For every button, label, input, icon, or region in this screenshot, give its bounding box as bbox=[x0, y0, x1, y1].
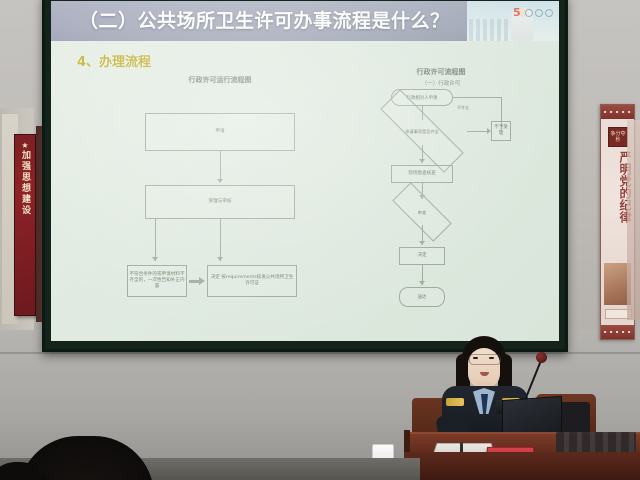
flow-node-label: 申请事项是否齐全 bbox=[405, 129, 439, 134]
flow-node-delivery: 送达 bbox=[399, 287, 445, 307]
left-wall-banner: ★ 加强思想建设 bbox=[0, 108, 46, 336]
flow-node-decision: 决定 bbox=[399, 247, 445, 265]
flow-arrow-icon bbox=[217, 257, 223, 261]
flow-node-label: 决定 按requirements核发公共场所卫生许可证 bbox=[209, 275, 295, 287]
left-flowchart-title: 行政许可运行流程图 bbox=[125, 75, 315, 85]
flow-connector bbox=[453, 97, 501, 98]
flow-node-label: 送达 bbox=[418, 294, 427, 300]
flow-node-label: 决定 bbox=[417, 253, 426, 259]
right-flowchart-title: 行政许可流程图 bbox=[351, 67, 531, 77]
right-banner-cap-bottom: ▪ ▪ ▪ ▪ ▪ bbox=[601, 325, 634, 339]
flow-node-supplement-notice: 不符合条件的或申请材料不齐全的，一次性告知补正内容 bbox=[127, 265, 187, 297]
circle-icon bbox=[545, 9, 553, 17]
flow-connector bbox=[220, 151, 221, 181]
star-icon: ★ bbox=[21, 141, 28, 150]
right-banner-cap-top: ▪ ▪ ▪ ▪ ▪ bbox=[601, 105, 634, 119]
flow-node-application: 申请 bbox=[145, 113, 295, 151]
right-flowchart-subtitle: （一）行政许可 bbox=[351, 79, 531, 87]
slide-header-illustration: 5 bbox=[467, 1, 559, 41]
microphone-icon bbox=[536, 352, 547, 363]
flow-node-examination: 审查 bbox=[393, 199, 451, 225]
presenter-eye-left bbox=[473, 357, 478, 359]
illustration-digit: 5 bbox=[513, 7, 521, 18]
right-banner-seal-text: 争分夺秒 bbox=[609, 128, 627, 143]
left-banner-text: 加强思想建设 bbox=[19, 150, 31, 216]
flow-arrow-icon bbox=[419, 159, 425, 163]
flow-node-label: 不予受理 bbox=[493, 125, 509, 137]
flow-node-label: 不符合条件的或申请材料不齐全的，一次性告知补正内容 bbox=[129, 272, 185, 290]
illustration-skyline bbox=[469, 19, 509, 41]
left-banner-plaque: ★ 加强思想建设 bbox=[14, 134, 36, 316]
flow-arrow-icon bbox=[217, 179, 223, 183]
right-banner-body-text bbox=[604, 165, 616, 245]
flow-connector bbox=[467, 131, 489, 132]
flow-node-decision-issue: 决定 按requirements核发公共场所卫生许可证 bbox=[207, 265, 297, 297]
presenter-eye-right bbox=[489, 357, 494, 359]
right-flowchart: 行政许可流程图 （一）行政许可 行政相对人申请 申请事项是否齐全 不齐全 bbox=[351, 67, 531, 327]
desk-front-panel bbox=[404, 452, 640, 480]
conference-room-scene: ★ 加强思想建设 ▪ ▪ ▪ ▪ ▪ 争分夺秒 严明党的纪律 ▪ ▪ ▪ ▪ ▪… bbox=[0, 0, 640, 480]
flow-arrow-icon bbox=[152, 257, 158, 261]
right-banner-seal: 争分夺秒 bbox=[608, 127, 628, 147]
slide-section-heading: 4、办理流程 bbox=[77, 51, 151, 70]
shoulder-board-left bbox=[446, 398, 464, 406]
slide-title: （二）公共场所卫生许可办事流程是什么？ bbox=[79, 6, 450, 33]
flow-node-reject: 不予受理 bbox=[491, 121, 511, 141]
flow-node-label: 受理与审核 bbox=[209, 199, 232, 205]
right-banner-cap-text-bottom: ▪ ▪ ▪ ▪ ▪ bbox=[601, 325, 634, 339]
circle-icon bbox=[535, 9, 543, 17]
flow-node-label: 现场勘查核查 bbox=[408, 171, 436, 177]
left-flowchart: 行政许可运行流程图 申请 受理与审核 bbox=[125, 75, 315, 325]
flow-arrow-icon bbox=[419, 281, 425, 285]
flow-thick-arrow-icon bbox=[189, 277, 205, 285]
right-wall-banner-secondary bbox=[627, 120, 640, 320]
desk-equipment bbox=[556, 432, 636, 454]
flow-node-site-inspection: 现场勘查核查 bbox=[391, 165, 453, 183]
right-banner-cap-text: ▪ ▪ ▪ ▪ ▪ bbox=[601, 105, 634, 119]
flow-connector bbox=[155, 219, 156, 261]
projector-screen-frame: （二）公共场所卫生许可办事流程是什么？ 5 4、办理流程 bbox=[42, 0, 568, 352]
glasses-icon bbox=[469, 354, 501, 365]
flow-node-completeness-check: 申请事项是否齐全 bbox=[377, 117, 467, 145]
illustration-icon-row bbox=[525, 9, 553, 17]
presentation-slide: （二）公共场所卫生许可办事流程是什么？ 5 4、办理流程 bbox=[51, 1, 559, 341]
flow-node-acceptance-review: 受理与审核 bbox=[145, 185, 295, 219]
slide-body: 4、办理流程 行政许可运行流程图 申请 受理与审核 bbox=[51, 41, 559, 341]
projector-screen: （二）公共场所卫生许可办事流程是什么？ 5 4、办理流程 bbox=[51, 1, 559, 341]
flow-node-label: 申请 bbox=[215, 129, 224, 135]
flow-connector bbox=[220, 219, 221, 261]
flow-node-label: 审查 bbox=[418, 210, 426, 215]
circle-icon bbox=[525, 9, 533, 17]
flow-edge-label: 不齐全 bbox=[457, 105, 469, 111]
flow-arrow-icon bbox=[419, 241, 425, 245]
